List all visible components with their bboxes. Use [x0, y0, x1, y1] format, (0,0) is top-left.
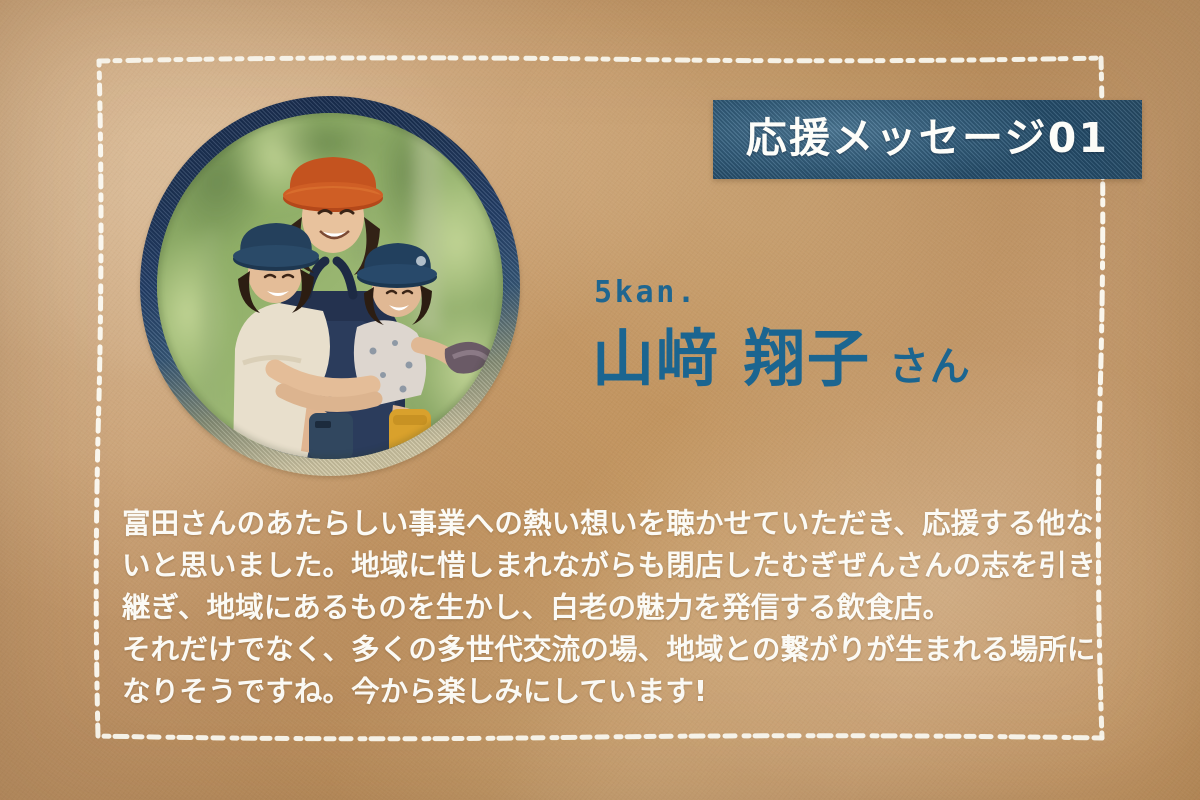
message-body: 富田さんのあたらしい事業への熱い想いを聴かせていただき、応援する他な いと思いま… [122, 503, 1090, 713]
message-line: 継ぎ、地域にあるものを生かし、白老の魅力を発信する飲食店。 [122, 587, 1090, 629]
message-line: なりそうですね。今から楽しみにしています! [122, 671, 1090, 713]
person-honorific: さん [889, 347, 971, 387]
message-line: いと思いました。地域に惜しまれながらも閉店したむぎぜんさんの志を引き [122, 545, 1090, 587]
message-line: 富田さんのあたらしい事業への熱い想いを聴かせていただき、応援する他な [122, 503, 1090, 545]
banner-label: 応援メッセージ01 [746, 118, 1110, 159]
person-name: 山﨑 翔子 [592, 328, 871, 390]
portrait [140, 96, 520, 476]
brand-name: 5kan. [594, 278, 1062, 308]
message-line: それだけでなく、多くの多世代交流の場、地域との繋がりが生まれる場所に [122, 629, 1090, 671]
person-name-row: 山﨑 翔子 さん [592, 328, 1062, 390]
profile-block: 5kan. 山﨑 翔子 さん [592, 278, 1062, 390]
portrait-image [157, 113, 503, 459]
message-card: 応援メッセージ01 5kan. 山﨑 翔子 さん 富田さんのあたらしい事業への熱… [0, 0, 1200, 800]
banner: 応援メッセージ01 [713, 100, 1142, 179]
